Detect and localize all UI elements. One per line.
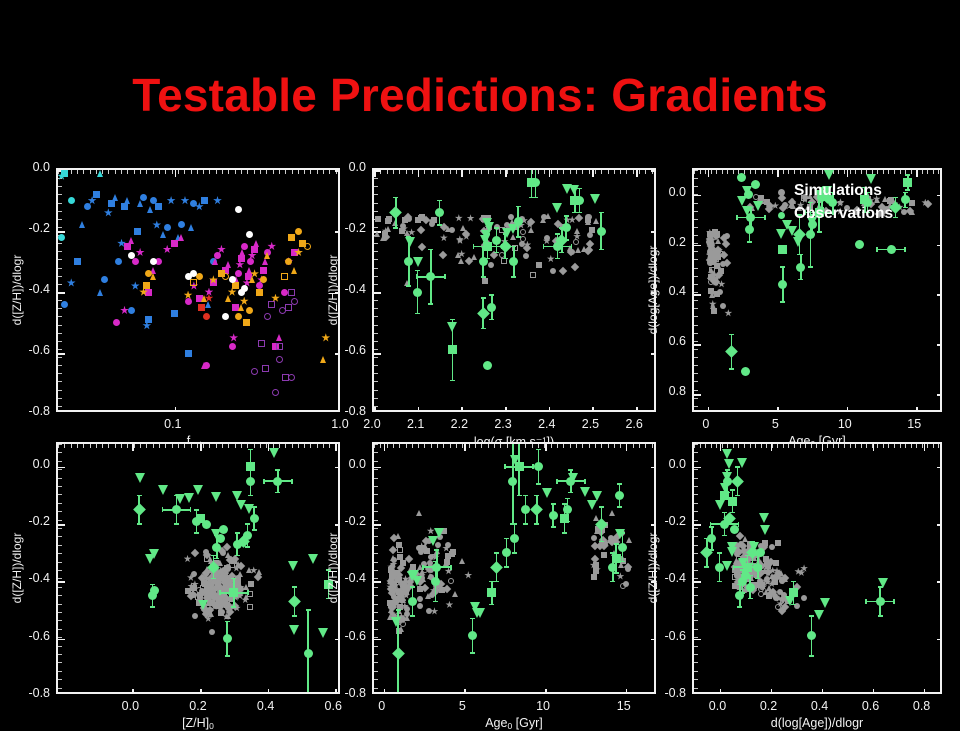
y-minor-tick — [940, 637, 942, 638]
x-minor-tick — [916, 444, 917, 448]
x-minor-tick — [777, 444, 778, 448]
y-tick — [937, 467, 942, 469]
data-point — [878, 578, 888, 588]
x-minor-tick — [766, 692, 767, 694]
figure-grid: 0.11.0-0.8-0.6-0.4-0.20.0fextrad([Z/H])/… — [0, 152, 960, 720]
x-minor-tick — [716, 444, 717, 448]
x-minor-tick — [772, 444, 773, 448]
x-minor-tick — [783, 444, 784, 448]
x-minor-tick — [827, 692, 828, 694]
error-bar-cap — [725, 469, 730, 471]
x-minor-tick — [866, 444, 867, 448]
data-point — [773, 560, 779, 566]
x-minor-tick — [900, 692, 901, 694]
data-point — [753, 563, 762, 572]
y-minor-tick — [940, 486, 942, 487]
y-tick-label: -0.8 — [652, 686, 686, 700]
data-point — [767, 558, 773, 564]
y-minor-tick — [694, 620, 698, 621]
y-minor-tick — [940, 452, 942, 453]
y-minor-tick — [940, 595, 942, 596]
error-bar-cap — [709, 549, 714, 551]
y-minor-tick — [940, 646, 942, 647]
x-minor-tick — [838, 692, 839, 694]
y-minor-tick — [940, 612, 942, 613]
x-minor-tick — [761, 444, 762, 448]
error-bar-cap — [865, 599, 867, 604]
x-minor-tick — [744, 692, 745, 694]
data-point — [759, 513, 769, 523]
x-minor-tick — [938, 692, 939, 694]
x-minor-tick — [922, 692, 923, 694]
x-minor-tick — [866, 692, 867, 694]
x-minor-tick — [727, 444, 728, 448]
slide: Testable Predictions: Gradients 0.11.0-0… — [0, 0, 960, 720]
y-axis-label: d([Z/H])/dlogr — [646, 533, 660, 604]
data-point — [775, 540, 781, 546]
y-tick — [937, 524, 942, 526]
x-minor-tick — [911, 692, 912, 694]
y-minor-tick — [940, 570, 942, 571]
x-minor-tick — [733, 444, 734, 448]
x-minor-tick — [855, 444, 856, 448]
x-minor-tick — [933, 692, 934, 694]
error-bar-cap — [735, 495, 740, 497]
x-minor-tick — [716, 692, 717, 694]
y-minor-tick — [694, 604, 698, 605]
x-minor-tick — [722, 444, 723, 448]
y-minor-tick — [694, 494, 698, 495]
x-minor-tick — [861, 444, 862, 448]
y-tick — [937, 581, 942, 583]
y-minor-tick — [694, 444, 698, 445]
x-minor-tick — [888, 692, 889, 694]
data-point — [722, 561, 732, 571]
y-minor-tick — [940, 662, 942, 663]
x-tick-label: 0.4 — [806, 699, 834, 713]
x-minor-tick — [733, 692, 734, 694]
x-minor-tick — [927, 444, 928, 448]
x-minor-tick — [883, 692, 884, 694]
data-point — [773, 595, 779, 601]
x-minor-tick — [750, 692, 751, 694]
x-minor-tick — [788, 444, 789, 448]
y-tick — [694, 639, 701, 641]
y-minor-tick — [940, 444, 942, 445]
x-minor-tick — [772, 692, 773, 694]
y-minor-tick — [694, 545, 698, 546]
x-minor-tick — [822, 692, 823, 694]
x-minor-tick — [738, 444, 739, 448]
x-minor-tick — [933, 444, 934, 448]
x-minor-tick — [816, 444, 817, 448]
x-minor-tick — [722, 692, 723, 694]
x-tick — [924, 444, 926, 451]
x-minor-tick — [788, 692, 789, 694]
x-minor-tick — [700, 692, 701, 694]
x-minor-tick — [705, 444, 706, 448]
y-minor-tick — [940, 671, 942, 672]
error-bar-cap — [737, 606, 742, 608]
data-point — [720, 483, 730, 493]
y-minor-tick — [694, 553, 698, 554]
x-minor-tick — [744, 444, 745, 448]
x-tick-label: 0.2 — [755, 699, 783, 713]
x-minor-tick — [766, 444, 767, 448]
y-minor-tick — [694, 637, 698, 638]
data-point — [785, 596, 795, 606]
y-minor-tick — [694, 662, 698, 663]
x-minor-tick — [850, 444, 851, 448]
y-tick — [694, 467, 701, 469]
x-tick — [873, 444, 875, 451]
y-tick-label: -0.2 — [652, 514, 686, 528]
y-minor-tick — [694, 688, 698, 689]
x-minor-tick — [833, 444, 834, 448]
x-minor-tick — [872, 692, 873, 694]
y-minor-tick — [694, 654, 698, 655]
x-minor-tick — [861, 692, 862, 694]
error-bar-cap — [717, 552, 722, 554]
x-tick — [720, 444, 722, 451]
x-minor-tick — [700, 444, 701, 448]
y-minor-tick — [940, 494, 942, 495]
y-minor-tick — [694, 503, 698, 504]
data-point — [876, 597, 885, 606]
x-minor-tick — [738, 692, 739, 694]
x-minor-tick — [833, 692, 834, 694]
x-minor-tick — [794, 444, 795, 448]
x-minor-tick — [894, 692, 895, 694]
x-minor-tick — [794, 692, 795, 694]
y-minor-tick — [940, 478, 942, 479]
x-minor-tick — [888, 444, 889, 448]
x-minor-tick — [911, 444, 912, 448]
x-minor-tick — [822, 444, 823, 448]
x-minor-tick — [805, 444, 806, 448]
x-axis-label: d(log[Age])/dlogr — [692, 716, 942, 730]
y-minor-tick — [940, 620, 942, 621]
page-title: Testable Predictions: Gradients — [0, 68, 960, 122]
data-point — [722, 472, 732, 482]
error-bar-cap — [791, 581, 796, 583]
x-tick-label: 0.6 — [857, 699, 885, 713]
x-minor-tick — [838, 444, 839, 448]
y-minor-tick — [940, 545, 942, 546]
error-bar-cap — [730, 489, 735, 491]
y-minor-tick — [940, 604, 942, 605]
y-tick-label: -0.6 — [652, 629, 686, 643]
y-minor-tick — [940, 688, 942, 689]
y-tick — [694, 581, 701, 583]
error-bar-cap — [740, 592, 745, 594]
x-minor-tick — [855, 692, 856, 694]
error-bar-cap — [722, 512, 727, 514]
x-minor-tick — [844, 444, 845, 448]
data-point — [820, 598, 830, 608]
x-minor-tick — [844, 692, 845, 694]
y-minor-tick — [940, 679, 942, 680]
error-bar-cap — [878, 615, 883, 617]
x-minor-tick — [905, 444, 906, 448]
error-bar-cap — [710, 522, 712, 527]
y-minor-tick — [694, 570, 698, 571]
data-point — [737, 458, 747, 468]
x-minor-tick — [916, 692, 917, 694]
x-minor-tick — [711, 692, 712, 694]
x-minor-tick — [783, 692, 784, 694]
y-minor-tick — [694, 536, 698, 537]
x-minor-tick — [894, 444, 895, 448]
data-point — [801, 595, 807, 601]
y-minor-tick — [694, 679, 698, 680]
error-bar-cap — [809, 655, 814, 657]
data-point — [807, 631, 816, 640]
y-minor-tick — [694, 578, 698, 579]
x-tick — [720, 689, 722, 694]
y-tick — [937, 639, 942, 641]
x-minor-tick — [805, 692, 806, 694]
data-point — [760, 525, 770, 535]
y-tick — [694, 524, 701, 526]
y-minor-tick — [694, 452, 698, 453]
x-minor-tick — [727, 692, 728, 694]
y-minor-tick — [940, 511, 942, 512]
y-minor-tick — [694, 562, 698, 563]
y-minor-tick — [940, 536, 942, 537]
data-point — [749, 542, 759, 552]
y-tick-label: 0.0 — [652, 457, 686, 471]
error-bar-cap — [893, 599, 895, 604]
y-minor-tick — [940, 461, 942, 462]
x-minor-tick — [777, 692, 778, 694]
x-minor-tick — [755, 444, 756, 448]
error-bar-cap — [755, 578, 760, 580]
x-minor-tick — [800, 444, 801, 448]
x-minor-tick — [816, 692, 817, 694]
error-bar-cap — [704, 566, 709, 568]
x-minor-tick — [850, 692, 851, 694]
x-minor-tick — [750, 444, 751, 448]
x-minor-tick — [705, 692, 706, 694]
x-tick-label: 0.0 — [704, 699, 732, 713]
x-minor-tick — [900, 444, 901, 448]
x-minor-tick — [811, 692, 812, 694]
y-minor-tick — [694, 486, 698, 487]
y-minor-tick — [694, 612, 698, 613]
y-minor-tick — [694, 528, 698, 529]
error-bar-cap — [717, 581, 722, 583]
y-minor-tick — [940, 578, 942, 579]
x-minor-tick — [927, 692, 928, 694]
y-minor-tick — [940, 562, 942, 563]
data-point — [731, 475, 744, 488]
error-bar-cap — [748, 598, 753, 600]
plot-area-6 — [692, 442, 942, 694]
y-minor-tick — [694, 587, 698, 588]
y-minor-tick — [940, 654, 942, 655]
panel-6: 0.00.20.40.60.8-0.8-0.6-0.4-0.20.0d(log[… — [0, 152, 960, 720]
data-point — [722, 449, 732, 459]
y-minor-tick — [694, 629, 698, 630]
data-point — [724, 459, 734, 469]
y-minor-tick — [940, 629, 942, 630]
x-tick — [924, 689, 926, 694]
y-minor-tick — [694, 469, 698, 470]
x-tick — [873, 689, 875, 694]
error-bar-cap — [722, 535, 727, 537]
x-minor-tick — [877, 444, 878, 448]
y-minor-tick — [940, 503, 942, 504]
data-point — [715, 500, 725, 510]
x-minor-tick — [877, 692, 878, 694]
x-minor-tick — [905, 692, 906, 694]
x-minor-tick — [800, 692, 801, 694]
y-minor-tick — [694, 461, 698, 462]
x-minor-tick — [694, 692, 695, 694]
data-point — [767, 589, 773, 595]
data-point — [746, 583, 755, 592]
data-point — [738, 558, 748, 568]
data-point — [814, 610, 824, 620]
data-point — [727, 542, 737, 552]
x-minor-tick — [922, 444, 923, 448]
y-minor-tick — [694, 671, 698, 672]
data-point — [707, 534, 716, 543]
y-minor-tick — [940, 469, 942, 470]
y-minor-tick — [940, 587, 942, 588]
y-minor-tick — [940, 553, 942, 554]
y-minor-tick — [694, 520, 698, 521]
x-minor-tick — [872, 444, 873, 448]
x-minor-tick — [711, 444, 712, 448]
x-minor-tick — [827, 444, 828, 448]
data-point — [758, 586, 764, 592]
x-minor-tick — [755, 692, 756, 694]
y-minor-tick — [940, 528, 942, 529]
y-minor-tick — [694, 646, 698, 647]
y-minor-tick — [694, 511, 698, 512]
y-minor-tick — [694, 478, 698, 479]
x-minor-tick — [811, 444, 812, 448]
y-minor-tick — [940, 520, 942, 521]
y-minor-tick — [694, 595, 698, 596]
error-bar-cap — [733, 565, 735, 570]
x-tick-label: 0.8 — [908, 699, 936, 713]
x-minor-tick — [761, 692, 762, 694]
x-minor-tick — [883, 444, 884, 448]
